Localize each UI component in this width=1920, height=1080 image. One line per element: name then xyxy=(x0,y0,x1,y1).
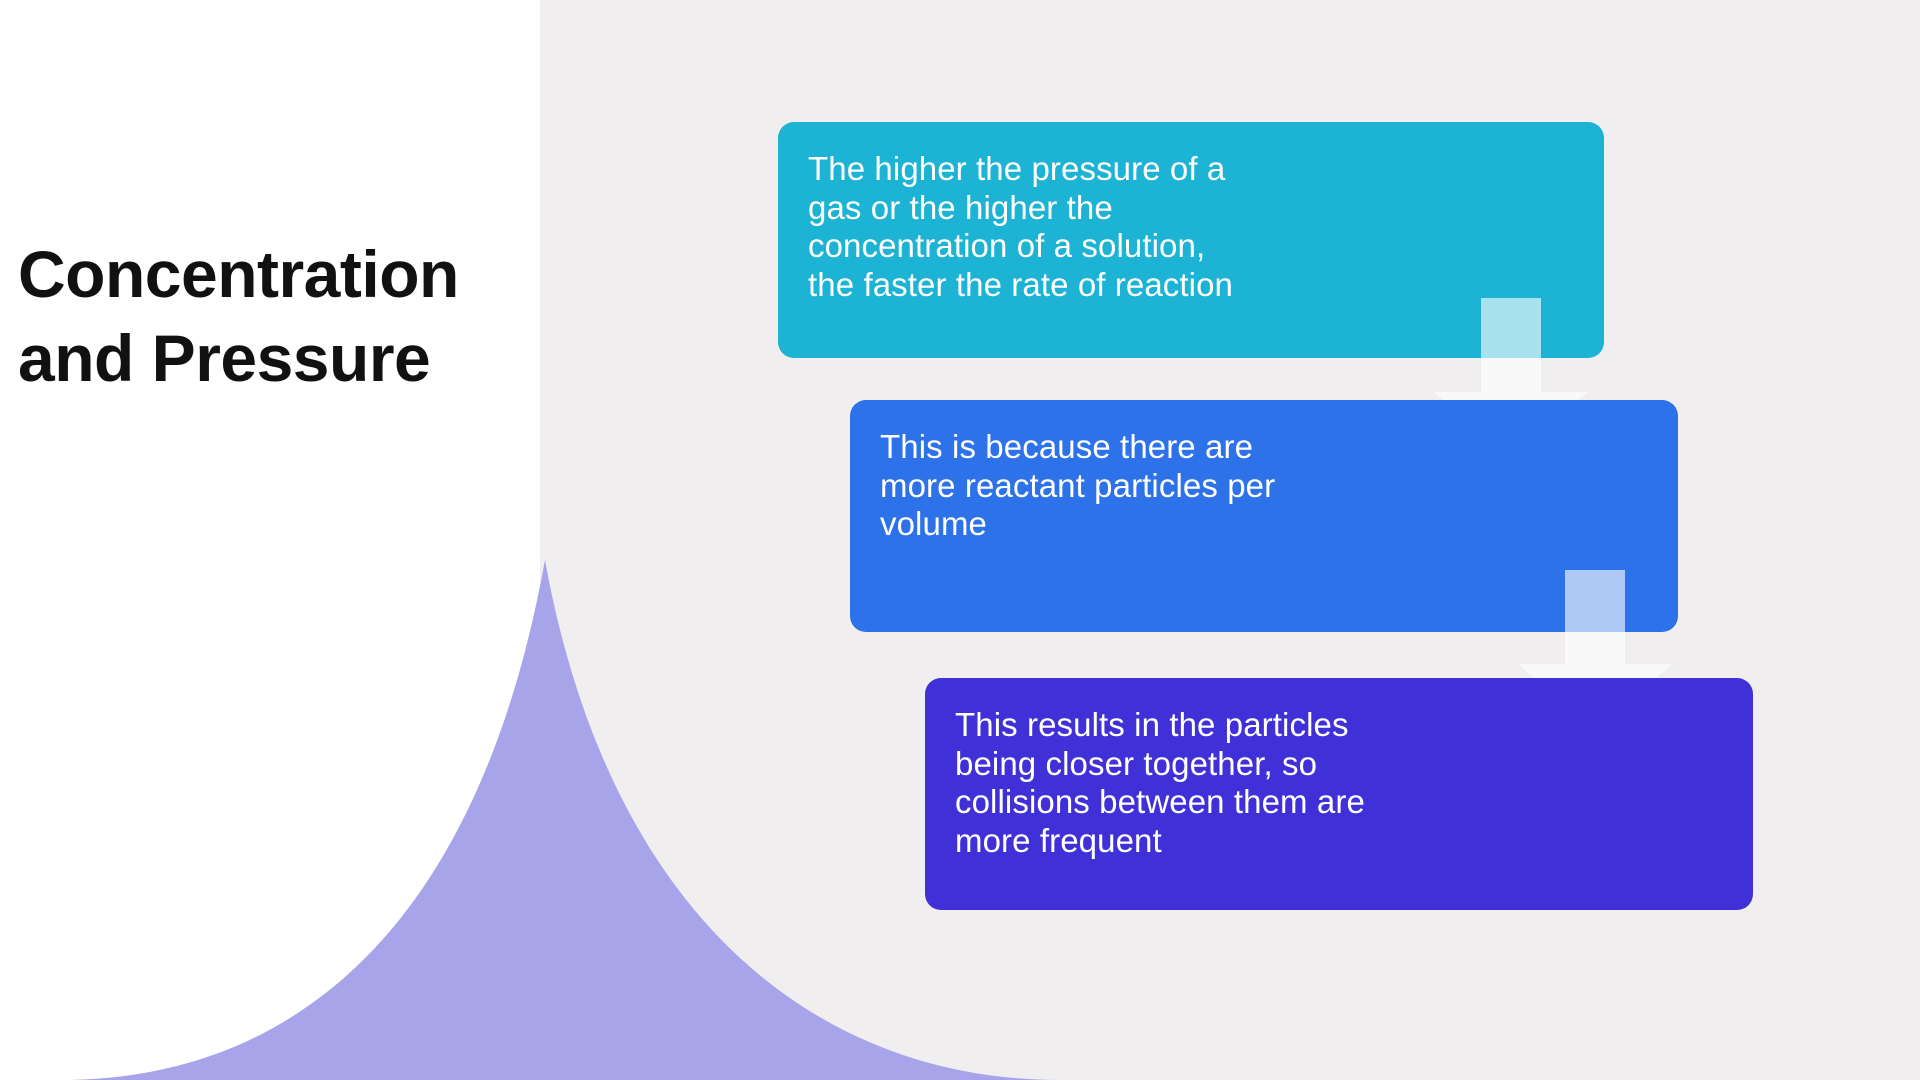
page-title: Concentration and Pressure xyxy=(18,232,538,401)
flow-step-box-3: This results in the particles being clos… xyxy=(925,678,1753,910)
flow-step-box-2: This is because there are more reactant … xyxy=(850,400,1678,632)
flow-step-box-1: The higher the pressure of a gas or the … xyxy=(778,122,1604,358)
slide-canvas: Concentration and Pressure The higher th… xyxy=(0,0,1920,1080)
background-left-panel xyxy=(0,0,540,1080)
